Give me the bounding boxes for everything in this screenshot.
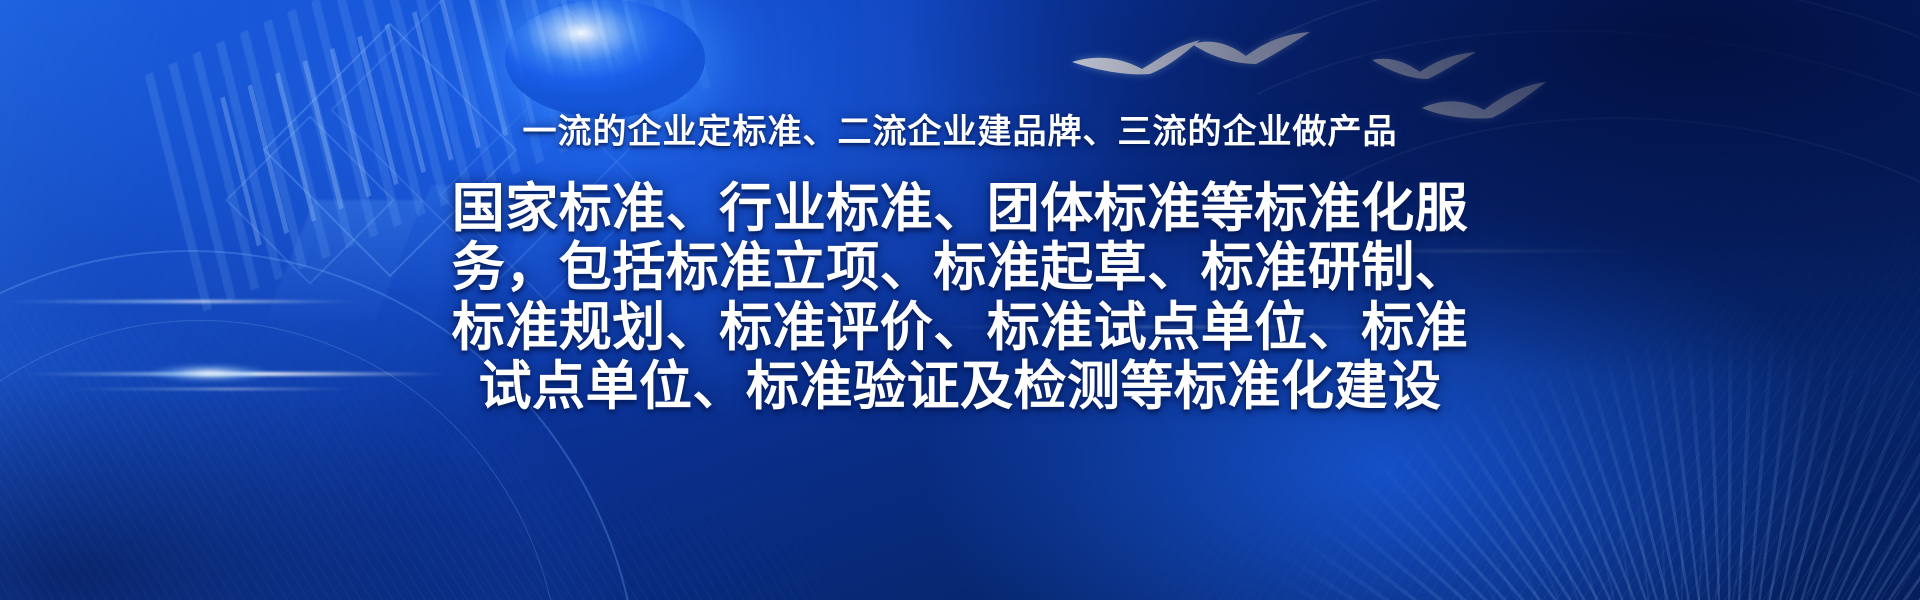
banner-body-text: 国家标准、行业标准、团体标准等标准化服 务，包括标准立项、标准起草、标准研制、 … — [445, 179, 1475, 416]
banner-body-line: 试点单位、标准验证及检测等标准化建设 — [445, 357, 1475, 416]
banner-content: 一流的企业定标准、二流企业建品牌、三流的企业做产品 国家标准、行业标准、团体标准… — [0, 0, 1920, 600]
banner-headline: 一流的企业定标准、二流企业建品牌、三流的企业做产品 — [523, 112, 1398, 153]
banner-body-line: 国家标准、行业标准、团体标准等标准化服 — [445, 179, 1475, 238]
promo-banner: 一流的企业定标准、二流企业建品牌、三流的企业做产品 国家标准、行业标准、团体标准… — [0, 0, 1920, 600]
banner-body-line: 务，包括标准立项、标准起草、标准研制、 — [445, 238, 1475, 297]
banner-body-line: 标准规划、标准评价、标准试点单位、标准 — [445, 298, 1475, 357]
